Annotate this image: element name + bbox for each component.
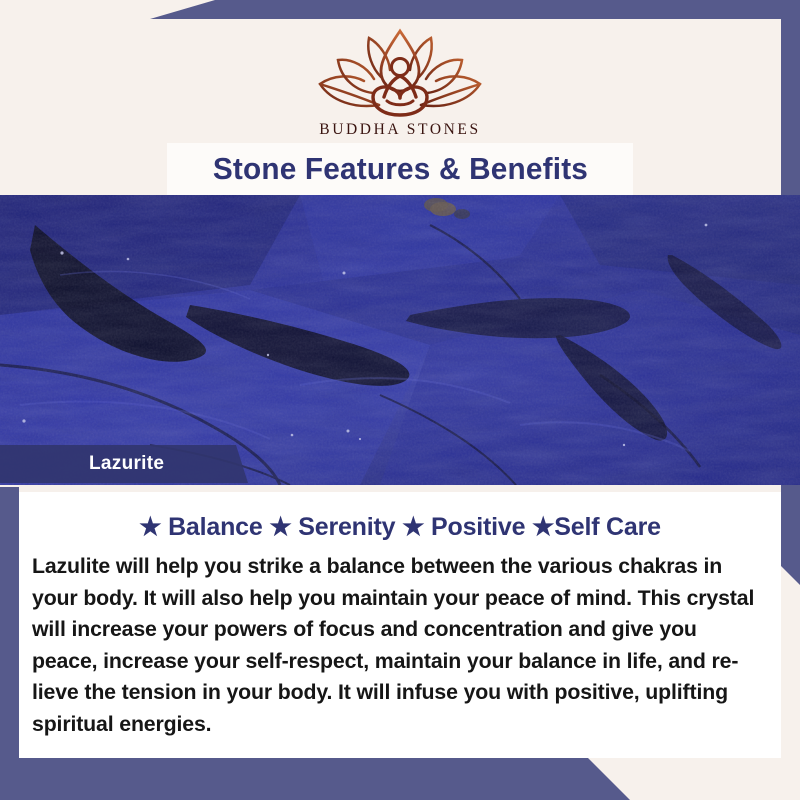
- frame-band-left: [0, 487, 19, 800]
- frame-band-top: [0, 0, 800, 19]
- card-content: ★ Balance ★ Serenity ★ Positive ★Self Ca…: [19, 485, 781, 758]
- brand-name: BUDDHA STONES: [319, 121, 480, 139]
- lazurite-stone-photo: Lazurite: [0, 195, 800, 485]
- benefit-keywords: ★ Balance ★ Serenity ★ Positive ★Self Ca…: [19, 512, 781, 542]
- frame-band-bottom: [0, 758, 800, 800]
- title-plate: Stone Features & Benefits: [167, 143, 633, 195]
- stone-description: Lazulite will help you strike a balance …: [32, 551, 758, 740]
- stone-name-label: Lazurite: [0, 453, 164, 475]
- lotus-meditating-figure-icon: [307, 27, 493, 119]
- stone-caption-band: Lazurite: [0, 445, 248, 483]
- stone-info-card: BUDDHA STONES Stone Features & Benefits: [0, 0, 800, 800]
- page-title: Stone Features & Benefits: [212, 151, 587, 187]
- brand-logo: BUDDHA STONES: [19, 27, 781, 139]
